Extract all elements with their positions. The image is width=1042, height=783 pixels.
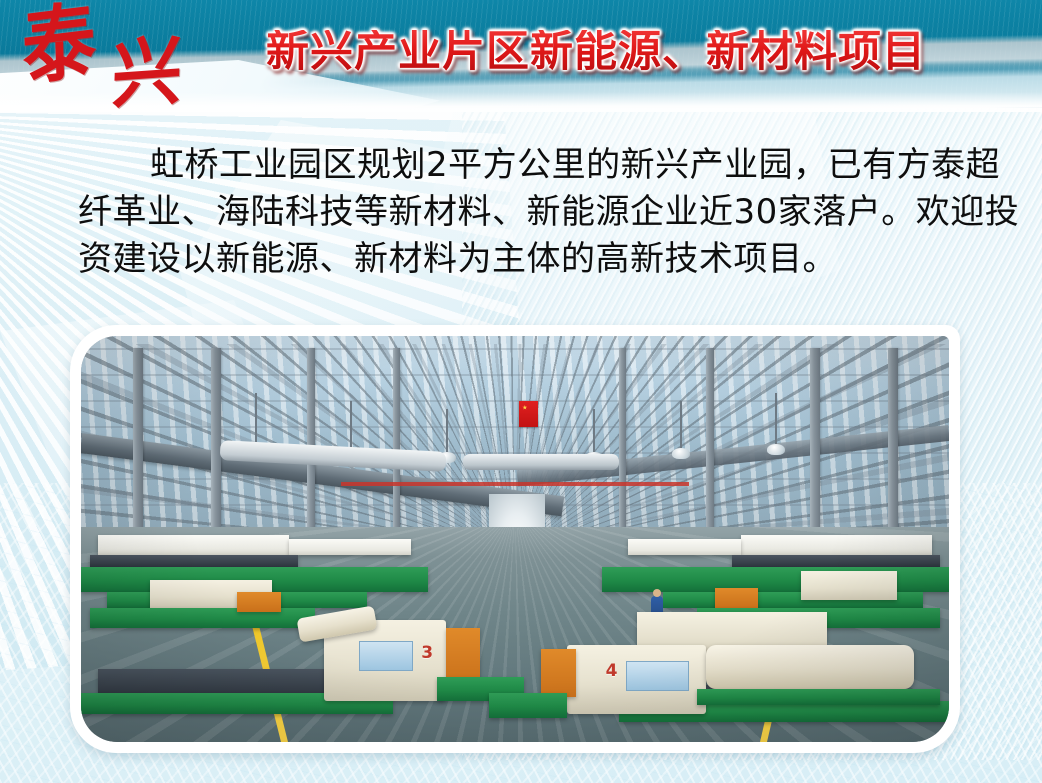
photo-pendant-lamp [680, 401, 682, 450]
body-line-2: 纤革业、海陆科技等新材料、新能源企业近30家落户。欢迎投 [78, 189, 978, 236]
photo-machine-label-4: 4 [606, 661, 618, 681]
body-line-3: 资建设以新能源、新材料为主体的高新技术项目。 [78, 236, 978, 283]
photo-machine-body [90, 555, 298, 567]
photo-machine-top [98, 535, 289, 555]
photo-pendant-lamp [255, 393, 257, 446]
photo-crane-rail [341, 482, 688, 486]
body-paragraph: 虹桥工业园区规划2平方公里的新兴产业园，已有方泰超 纤革业、海陆科技等新材料、新… [78, 142, 978, 283]
photo-machine-body [732, 555, 940, 567]
slide-canvas: 泰 兴 新兴产业片区新能源、新材料项目 虹桥工业园区规划2平方公里的新兴产业园，… [0, 0, 1042, 783]
photo-frame: 3 4 [70, 325, 960, 753]
factory-interior-photo: 3 4 [81, 336, 949, 742]
page-title-text: 新兴产业片区新能源、新材料项目 [266, 30, 926, 75]
photo-machine-top [741, 535, 932, 555]
photo-machine-3-panel [359, 641, 413, 671]
photo-machine-4-base [489, 693, 567, 717]
photo-fabric-roll-right [706, 645, 914, 690]
photo-pendant-lamp [446, 409, 448, 454]
photo-machine-top [628, 539, 741, 555]
photo-duct [463, 454, 619, 470]
body-line-1: 虹桥工业园区规划2平方公里的新兴产业园，已有方泰超 [78, 142, 978, 189]
photo-machine-top [289, 539, 411, 555]
photo-roll-cradle [697, 689, 940, 705]
photo-machine-cabinet [801, 571, 896, 599]
photo-machine-orange-part [715, 588, 758, 608]
photo-machine-orange-part [237, 592, 280, 612]
photo-pendant-lamp [350, 401, 352, 450]
photo-machine-green-frame [602, 567, 949, 591]
photo-machine-label-3: 3 [421, 643, 433, 663]
photo-pendant-lamp [593, 409, 595, 454]
photo-machine-green-frame [90, 608, 316, 628]
photo-pendant-lamp [775, 393, 777, 446]
photo-machine-4-side [541, 649, 576, 698]
page-title: 新兴产业片区新能源、新材料项目 [0, 30, 1042, 75]
photo-machine-4-panel [626, 661, 689, 691]
photo-chinese-flag [519, 401, 538, 427]
